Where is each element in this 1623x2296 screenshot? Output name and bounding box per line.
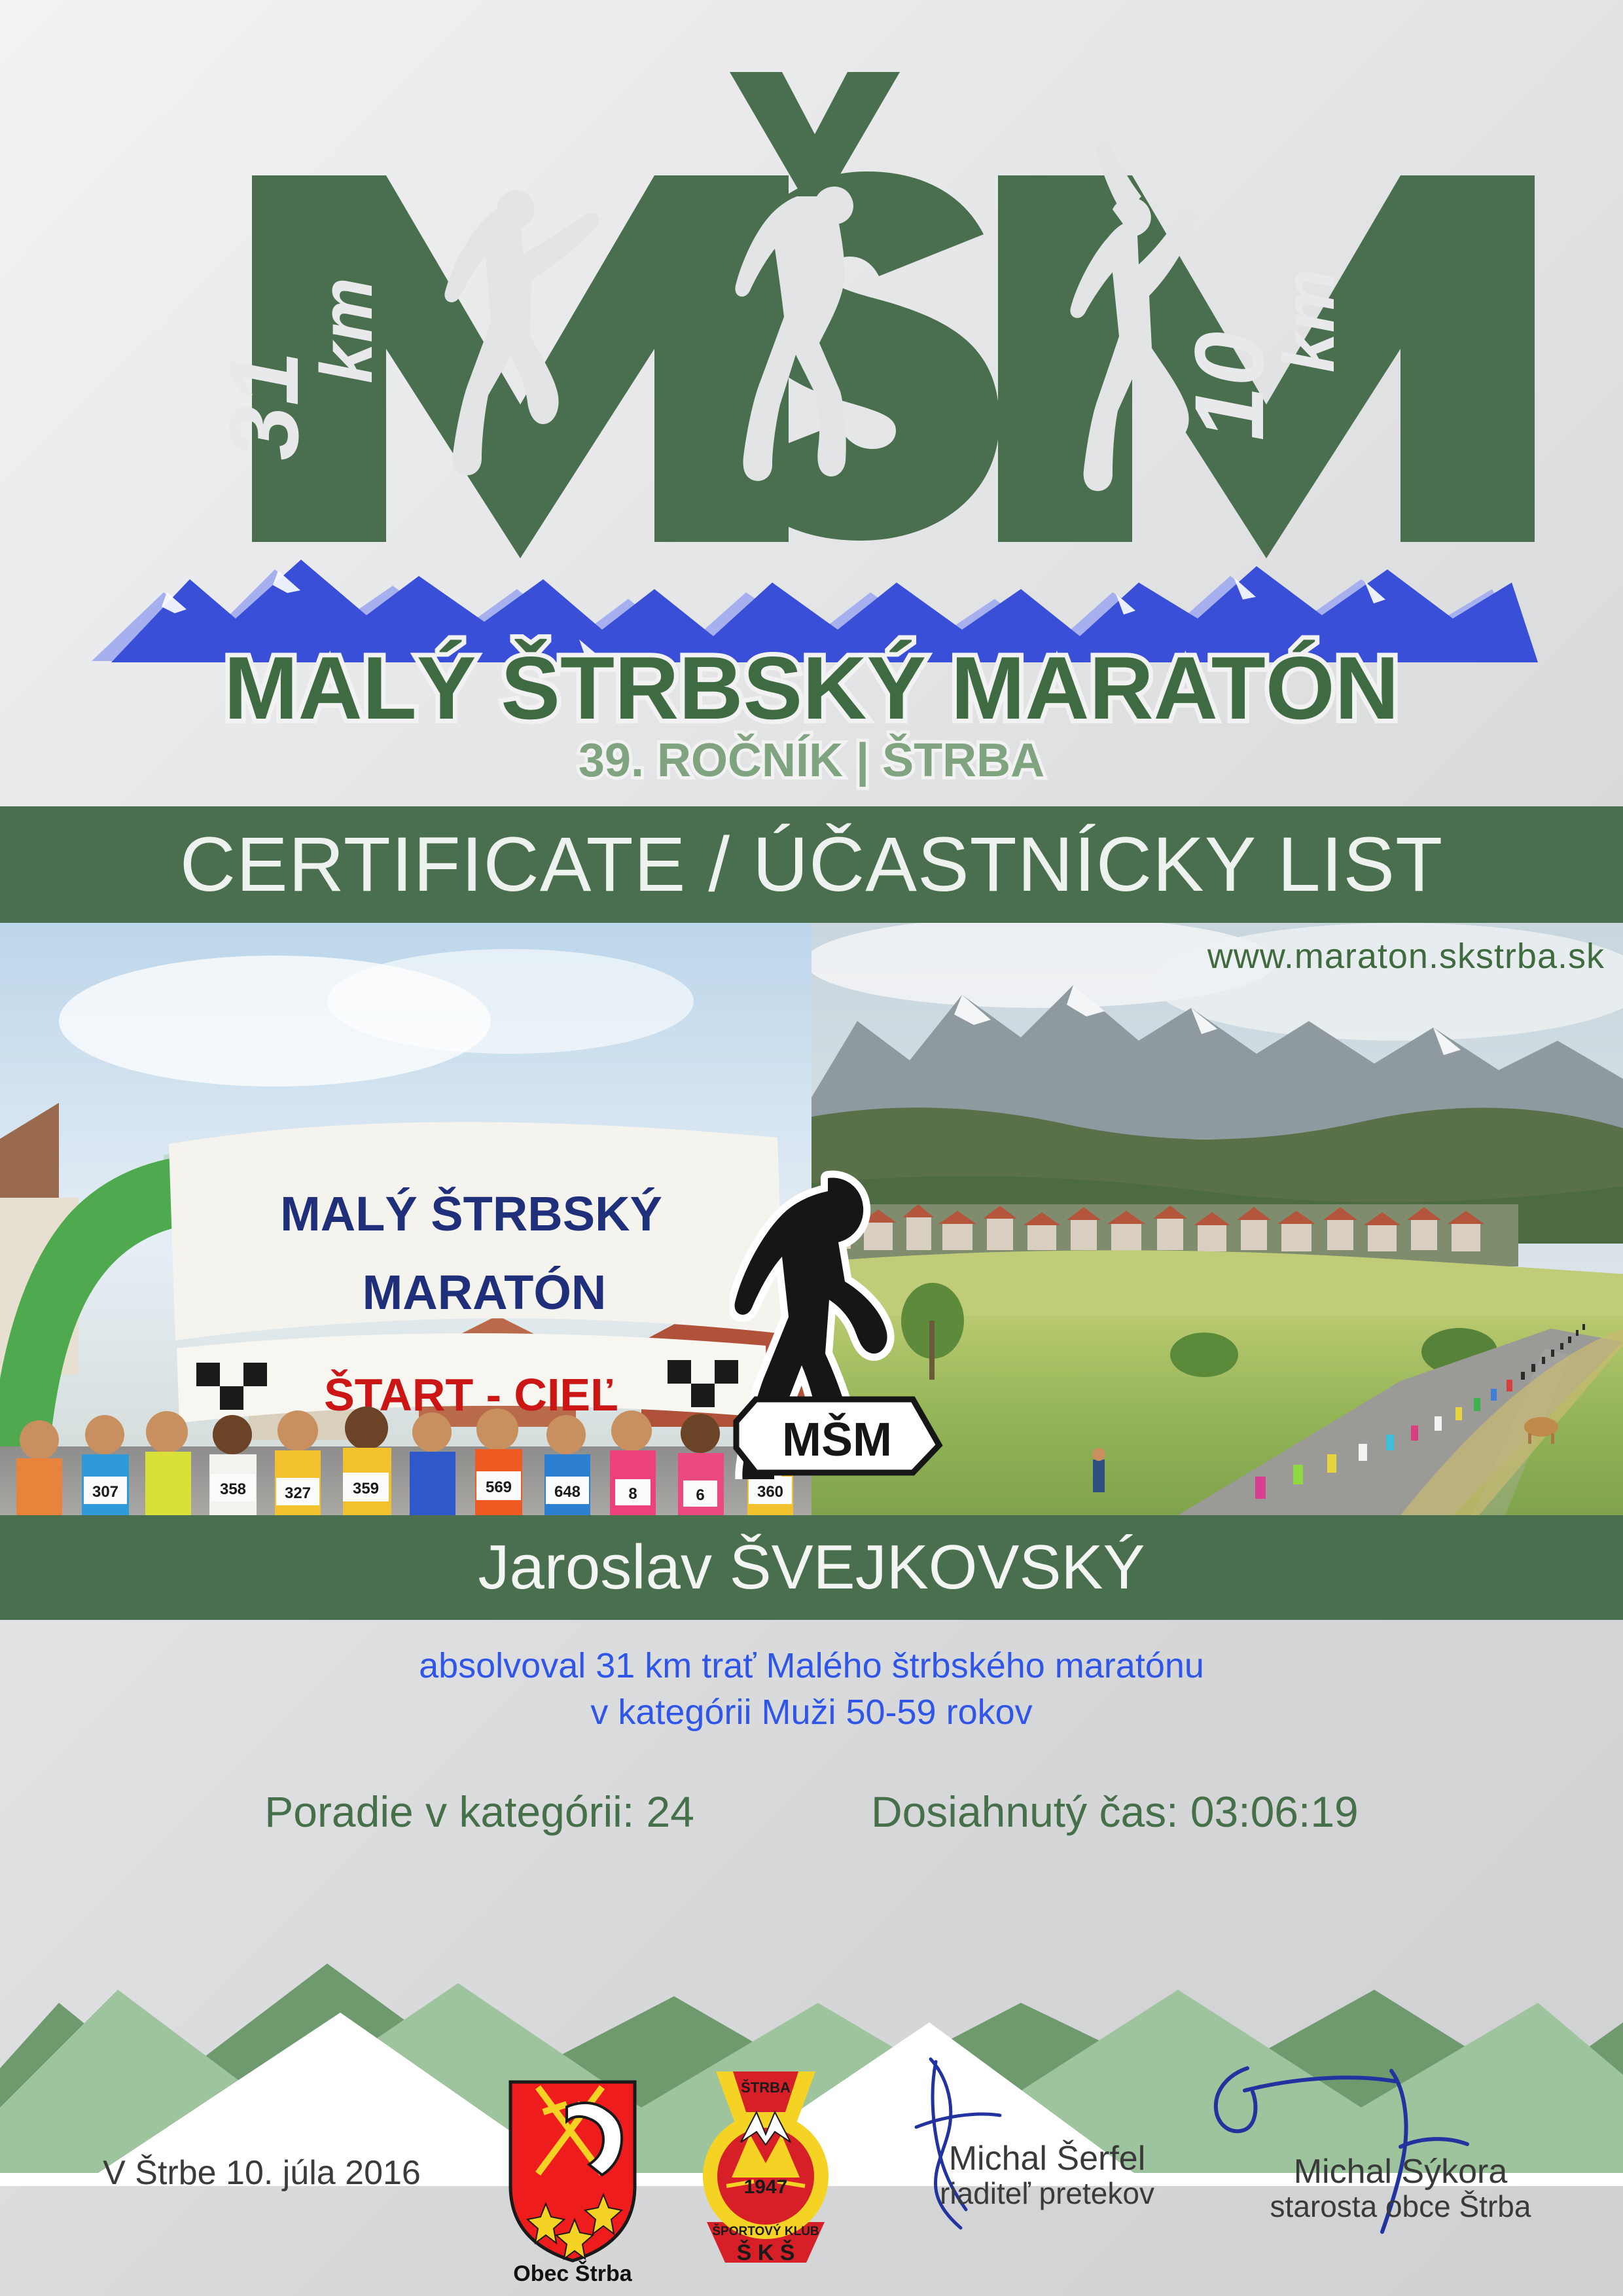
certificate-page: 31 km 10 km bbox=[0, 0, 1623, 2296]
issue-date: V Štrbe 10. júla 2016 bbox=[79, 2153, 445, 2193]
svg-text:569: 569 bbox=[486, 1479, 512, 1496]
signatory-name: Michal Šerfel bbox=[877, 2140, 1217, 2177]
logo-letter-M-left: 31 km bbox=[209, 175, 789, 558]
svg-text:km: km bbox=[1269, 269, 1349, 373]
signature-block-serfel: Michal Šerfel riaditeľ pretekov bbox=[877, 2140, 1217, 2210]
participant-name: Jaroslav ŠVEJKOVSKÝ bbox=[478, 1532, 1145, 1604]
photo-strip: MALÝ ŠTRBSKÝ MARATÓN ŠTART - CIEĽ bbox=[0, 923, 1623, 1515]
description-line-1: absolvoval 31 km trať Malého štrbského m… bbox=[0, 1643, 1623, 1689]
signature-block-sykora: Michal Sýkora starosta obce Štrba bbox=[1230, 2153, 1571, 2223]
svg-text:358: 358 bbox=[220, 1480, 246, 1498]
svg-text:km: km bbox=[306, 278, 387, 384]
sks-top-text: ŠTRBA bbox=[741, 2079, 791, 2096]
sks-bottom-text: Š K Š bbox=[737, 2240, 795, 2265]
signatory-role: starosta obce Štrba bbox=[1230, 2190, 1571, 2223]
svg-text:327: 327 bbox=[285, 1484, 311, 1502]
badge-10km-text: 10 bbox=[1174, 332, 1284, 441]
svg-text:8: 8 bbox=[628, 1485, 637, 1503]
finish-time: Dosiahnutý čas: 03:06:19 bbox=[871, 1787, 1359, 1837]
participant-name-band: Jaroslav ŠVEJKOVSKÝ bbox=[0, 1515, 1623, 1620]
sks-year-text: 1947 bbox=[744, 2176, 788, 2198]
start-arch-runners-photo: MALÝ ŠTRBSKÝ MARATÓN ŠTART - CIEĽ bbox=[0, 923, 811, 1515]
msm-runner-emblem: MŠM bbox=[730, 1165, 946, 1479]
svg-text:648: 648 bbox=[554, 1483, 580, 1501]
arch-line1-text: MALÝ ŠTRBSKÝ bbox=[280, 1187, 662, 1241]
msm-emblem-label: MŠM bbox=[782, 1413, 892, 1466]
signatory-name: Michal Sýkora bbox=[1230, 2153, 1571, 2190]
results-row: Poradie v kategórii: 24 Dosiahnutý čas: … bbox=[0, 1787, 1623, 1837]
event-logo-block: 31 km 10 km bbox=[0, 0, 1623, 805]
website-url-text: www.maraton.skstrba.sk bbox=[1207, 936, 1605, 977]
svg-text:6: 6 bbox=[696, 1486, 704, 1504]
msm-logo-graphic: 31 km 10 km bbox=[0, 0, 1623, 805]
arch-line2-text: MARATÓN bbox=[363, 1265, 607, 1319]
achievement-description: absolvoval 31 km trať Malého štrbského m… bbox=[0, 1643, 1623, 1736]
event-title-text: MALÝ ŠTRBSKÝ MARATÓN bbox=[224, 638, 1399, 738]
signatory-role: riaditeľ pretekov bbox=[877, 2177, 1217, 2210]
svg-text:360: 360 bbox=[757, 1483, 783, 1501]
certificate-title-band: CERTIFICATE / ÚČASTNÍCKY LIST bbox=[0, 806, 1623, 923]
description-line-2: v kategórii Muži 50-59 rokov bbox=[0, 1689, 1623, 1736]
page-title: CERTIFICATE / ÚČASTNÍCKY LIST bbox=[180, 820, 1443, 909]
badge-31km-text: 31 bbox=[209, 351, 319, 461]
sks-ring-text: ŠPORTOVÝ KLUB bbox=[712, 2224, 819, 2238]
logo-letter-M-right: 10 km bbox=[998, 141, 1535, 558]
obec-strba-label: Obec Štrba bbox=[497, 2261, 648, 2287]
event-subtitle-text: 39. ROČNÍK | ŠTRBA bbox=[579, 734, 1044, 787]
svg-text:307: 307 bbox=[92, 1483, 118, 1501]
svg-text:359: 359 bbox=[353, 1480, 379, 1498]
sks-strba-club-logo: ŠTRBA 1947 ŠPORTOVÝ KLUB Š K Š bbox=[694, 2072, 838, 2268]
category-rank: Poradie v kategórii: 24 bbox=[264, 1787, 694, 1837]
logo-letter-S-middle bbox=[727, 72, 999, 541]
obec-strba-coat-of-arms bbox=[504, 2078, 641, 2265]
